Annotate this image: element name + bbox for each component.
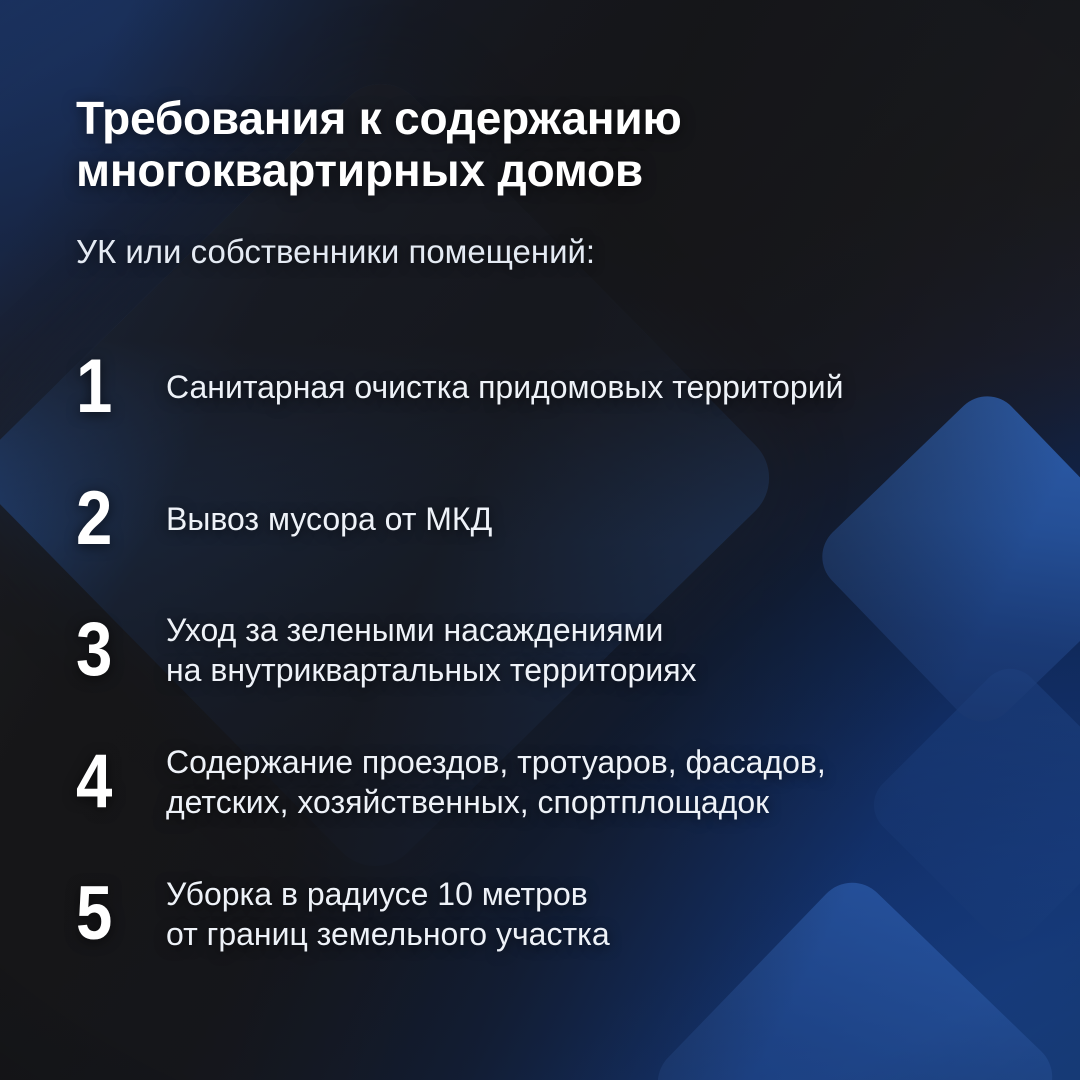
list-item-text: Вывоз мусора от МКД <box>166 499 1056 539</box>
list-item-number: 2 <box>76 484 153 554</box>
list-item: 1 Санитарная очистка придомовых территор… <box>76 352 1056 422</box>
list-item-number: 1 <box>76 352 153 422</box>
content-area: Требования к содержанию многоквартирных … <box>0 0 1080 1080</box>
list-item-line-1: Содержание проездов, тротуаров, фасадов, <box>166 742 1056 782</box>
page-title-line-1: Требования к содержанию <box>76 92 816 144</box>
list-item-text: Содержание проездов, тротуаров, фасадов,… <box>166 742 1056 823</box>
list-item-text: Санитарная очистка придомовых территорий <box>166 367 1056 407</box>
list-item-line-2: от границ земельного участка <box>166 914 1056 954</box>
list-item: 3 Уход за зелеными насаждениями на внутр… <box>76 610 1056 691</box>
list-item: 2 Вывоз мусора от МКД <box>76 484 1056 554</box>
list-item-number: 3 <box>76 615 153 685</box>
list-item-line-1: Уход за зелеными насаждениями <box>166 610 1056 650</box>
list-item-line-2: детских, хозяйственных, спортплощадок <box>166 782 1056 822</box>
list-item-line-1: Уборка в радиусе 10 метров <box>166 874 1056 914</box>
list-item-line-2: на внутриквартальных территориях <box>166 650 1056 690</box>
list-item-text: Уход за зелеными насаждениями на внутрик… <box>166 610 1056 691</box>
list-item: 4 Содержание проездов, тротуаров, фасадо… <box>76 742 1056 823</box>
page-subtitle: УК или собственники помещений: <box>76 232 595 272</box>
list-item-number: 5 <box>76 879 153 949</box>
list-item-line-1: Санитарная очистка придомовых территорий <box>166 367 1056 407</box>
page-title-line-2: многоквартирных домов <box>76 144 816 196</box>
infographic-canvas: Требования к содержанию многоквартирных … <box>0 0 1080 1080</box>
list-item-number: 4 <box>76 747 153 817</box>
list-item-text: Уборка в радиусе 10 метров от границ зем… <box>166 874 1056 955</box>
page-title: Требования к содержанию многоквартирных … <box>76 92 816 197</box>
list-item-line-1: Вывоз мусора от МКД <box>166 499 1056 539</box>
list-item: 5 Уборка в радиусе 10 метров от границ з… <box>76 874 1056 955</box>
